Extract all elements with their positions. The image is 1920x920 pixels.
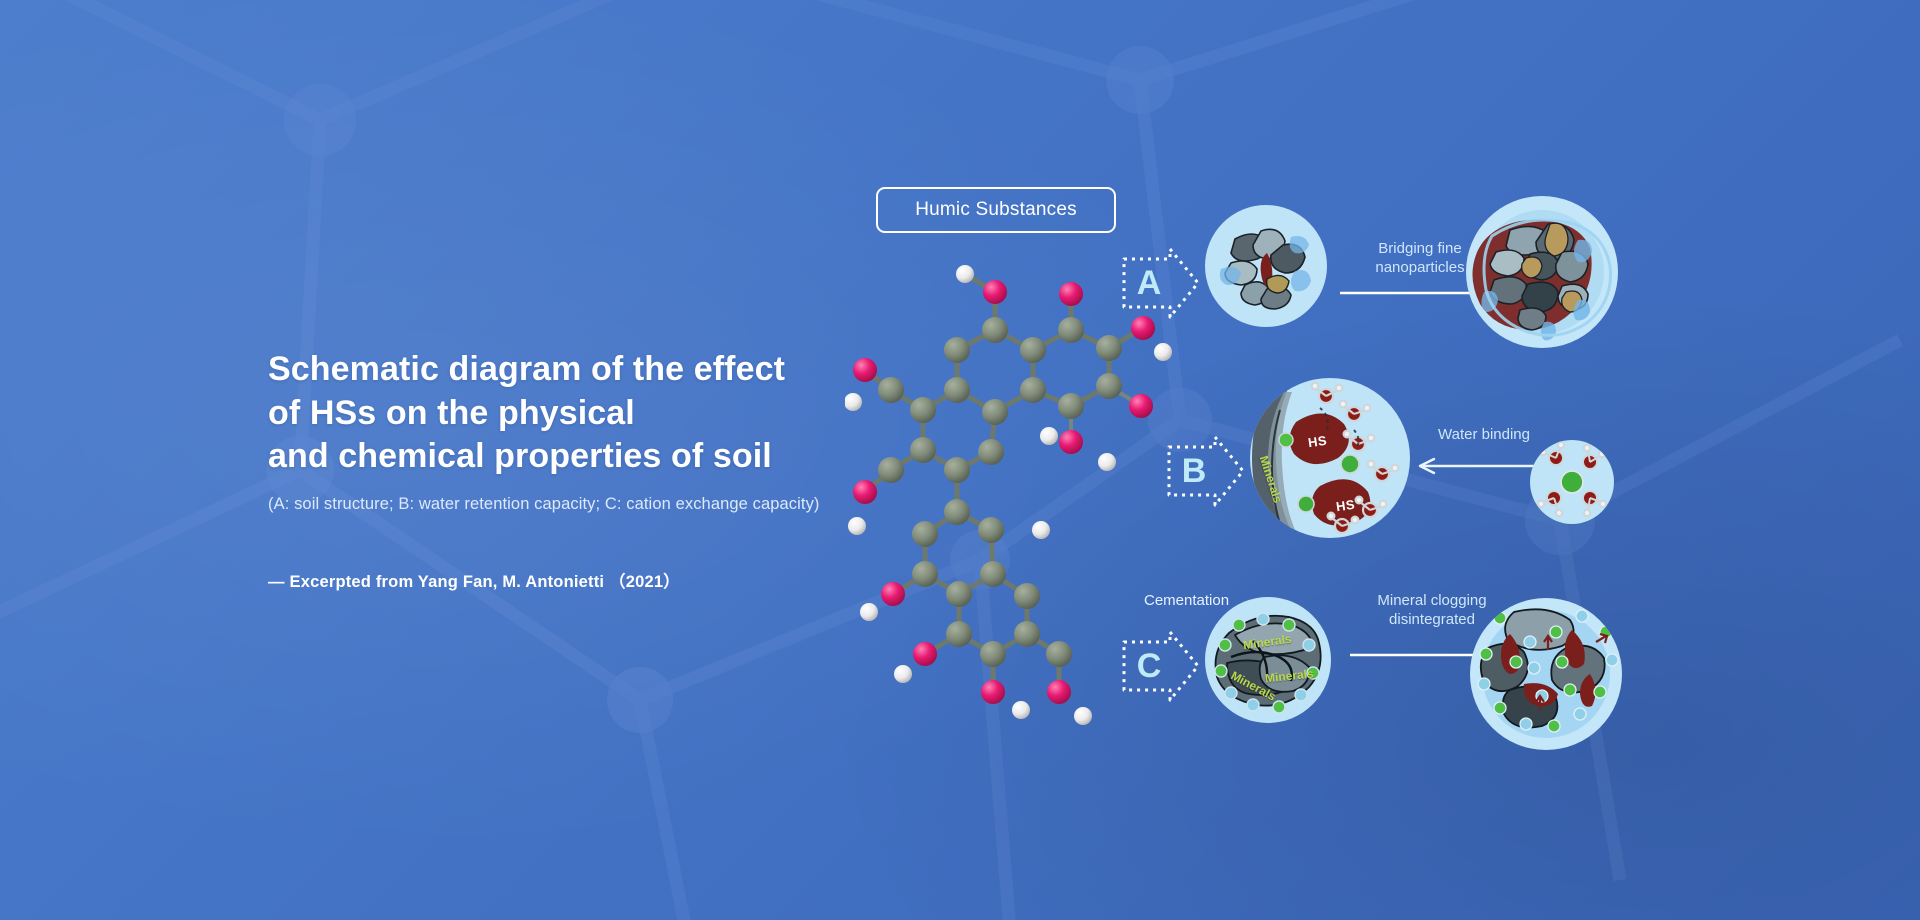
page-subtitle: (A: soil structure; B: water retention c… [268,493,908,516]
humic-substances-label-text: Humic Substances [915,199,1077,221]
row-c-marker-letter: C [1118,628,1180,704]
row-b-marker-letter-wrap: B [1163,433,1247,509]
row-c-right-circle [1470,598,1622,750]
text-block: Schematic diagram of the effect of HSs o… [268,348,908,592]
page-title: Schematic diagram of the effect of HSs o… [268,348,908,479]
row-a-left-circle [1205,205,1327,327]
row-a-marker-letter-wrap: A [1118,245,1202,321]
row-a-right-circle [1466,196,1618,348]
row-b-right-circle [1530,440,1614,524]
page-title-line-1: Schematic diagram of the effect [268,348,908,392]
page-title-line-3: and chemical properties of soil [268,435,908,479]
diagram-page: Schematic diagram of the effect of HSs o… [0,0,1920,920]
row-c-arrow-label-line-1: Mineral clogging [1348,592,1516,611]
row-c-left-circle: Minerals Minerals Minerals [1205,597,1331,723]
row-b-arrow-label-line-1: Water binding [1414,426,1554,445]
row-a-marker-letter: A [1118,245,1180,321]
page-title-line-2: of HSs on the physical [268,392,908,436]
row-b-flow-arrow [1412,456,1542,476]
row-c-marker-letter-wrap: C [1118,628,1202,704]
row-c-cementation-label: Cementation [1144,592,1229,611]
row-b-left-circle: HS HS Minerals [1250,378,1410,538]
humic-substances-label: Humic Substances [876,187,1116,233]
attribution-line: — Excerpted from Yang Fan, M. Antonietti… [268,568,908,592]
row-b-marker-letter: B [1163,433,1225,509]
row-b-arrow-label: Water binding [1414,426,1554,445]
